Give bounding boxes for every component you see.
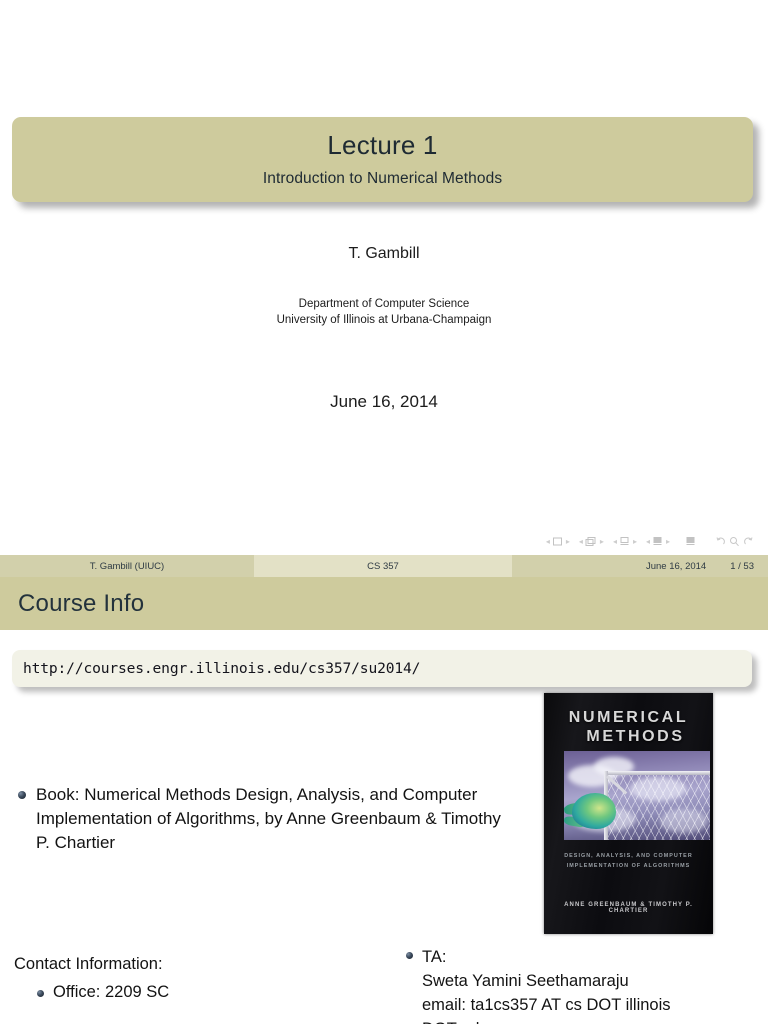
footer-right-group: June 16, 2014 1 / 53 — [512, 555, 768, 577]
footer-author: T. Gambill (UIUC) — [0, 555, 254, 577]
footer-page-number: 1 / 53 — [730, 561, 754, 572]
book-title-line2: METHODS — [544, 728, 713, 747]
book-subtitle-line1: DESIGN, ANALYSIS, AND COMPUTER — [544, 851, 713, 861]
ball-shape — [572, 793, 616, 829]
frame-title-bar: Course Info — [0, 577, 768, 630]
course-url-text[interactable]: http://courses.engr.illinois.edu/cs357/s… — [23, 660, 420, 677]
book-cover-authors: ANNE GREENBAUM & TIMOTHY P. CHARTIER — [544, 902, 713, 914]
bullet-dot-icon — [406, 952, 413, 959]
lecture-subtitle: Introduction to Numerical Methods — [263, 170, 502, 188]
book-cover-subtitle: DESIGN, ANALYSIS, AND COMPUTER IMPLEMENT… — [544, 851, 713, 871]
frame-navigation-icon[interactable] — [585, 536, 597, 547]
go-back-icon[interactable] — [715, 536, 726, 547]
ta-information-block: TA: Sweta Yamini Seethamaraju email: ta1… — [406, 945, 768, 1024]
frame-next-arrow-icon[interactable]: ▸ — [600, 537, 604, 546]
goal-crossbar-shape — [604, 771, 710, 775]
bullet-dot-icon — [18, 791, 26, 799]
search-icon[interactable] — [729, 536, 740, 547]
slide-navigation-icon[interactable] — [552, 536, 563, 547]
beamer-navigation-bar[interactable]: ◂ ▸ ◂ ▸ ◂ ▸ — [546, 536, 754, 547]
ta-details: TA: Sweta Yamini Seethamaraju email: ta1… — [422, 945, 671, 1024]
frame-navigation-group[interactable]: ◂ ▸ — [579, 536, 604, 547]
lecture-title: Lecture 1 — [327, 131, 437, 161]
book-subtitle-line2: IMPLEMENTATION OF ALGORITHMS — [544, 861, 713, 871]
ta-email: email: ta1cs357 AT cs DOT illinois — [422, 993, 671, 1017]
slide-prev-arrow-icon[interactable]: ◂ — [546, 537, 550, 546]
bullet-dot-icon — [37, 990, 44, 997]
office-text: Office: 2209 SC — [53, 983, 169, 1002]
affiliation-department: Department of Computer Science — [0, 296, 768, 312]
document-navigation-icon[interactable] — [685, 536, 696, 547]
ta-label: TA: — [422, 945, 671, 969]
subsection-next-arrow-icon[interactable]: ▸ — [633, 537, 637, 546]
presentation-date: June 16, 2014 — [0, 392, 768, 412]
title-banner: Lecture 1 Introduction to Numerical Meth… — [12, 117, 753, 202]
section-next-arrow-icon[interactable]: ▸ — [666, 537, 670, 546]
book-description-text: Book: Numerical Methods Design, Analysis… — [36, 783, 518, 855]
slide-next-arrow-icon[interactable]: ▸ — [566, 537, 570, 546]
go-forward-icon[interactable] — [743, 536, 754, 547]
book-cover-title: NUMERICAL METHODS — [544, 709, 713, 747]
subsection-navigation-group[interactable]: ◂ ▸ — [613, 536, 637, 547]
list-item: Book: Numerical Methods Design, Analysis… — [18, 783, 518, 855]
section-prev-arrow-icon[interactable]: ◂ — [646, 537, 650, 546]
ta-email-continued: DOT edu — [422, 1017, 671, 1024]
contact-information-block: Contact Information: Office: 2209 SC — [14, 955, 404, 1002]
ta-name: Sweta Yamini Seethamaraju — [422, 969, 671, 993]
subsection-prev-arrow-icon[interactable]: ◂ — [613, 537, 617, 546]
course-url-block[interactable]: http://courses.engr.illinois.edu/cs357/s… — [12, 650, 752, 687]
list-item: Office: 2209 SC — [37, 983, 404, 1002]
page-title: Course Info — [18, 590, 144, 618]
subsection-navigation-icon[interactable] — [619, 536, 630, 547]
section-navigation-icon[interactable] — [652, 536, 663, 547]
footer-date: June 16, 2014 — [646, 561, 706, 572]
book-cover-photo — [564, 751, 710, 840]
frame-prev-arrow-icon[interactable]: ◂ — [579, 537, 583, 546]
slide-footer: T. Gambill (UIUC) CS 357 June 16, 2014 1… — [0, 555, 768, 577]
affiliation-university: University of Illinois at Urbana-Champai… — [0, 312, 768, 328]
contact-heading: Contact Information: — [14, 955, 404, 974]
author-name: T. Gambill — [0, 245, 768, 263]
footer-course: CS 357 — [254, 555, 512, 577]
slide-navigation-group[interactable]: ◂ ▸ — [546, 536, 570, 547]
affiliation-block: Department of Computer Science Universit… — [0, 296, 768, 329]
navigation-end-group[interactable] — [715, 536, 754, 547]
section-navigation-group[interactable]: ◂ ▸ — [646, 536, 670, 547]
title-slide: Lecture 1 Introduction to Numerical Meth… — [0, 0, 768, 580]
presentation-page: Lecture 1 Introduction to Numerical Meth… — [0, 0, 768, 1024]
book-cover-image: NUMERICAL METHODS DESIGN, ANALYSIS, AND … — [544, 693, 713, 934]
book-title-line1: NUMERICAL — [544, 709, 713, 728]
goal-net-shape — [608, 773, 710, 840]
